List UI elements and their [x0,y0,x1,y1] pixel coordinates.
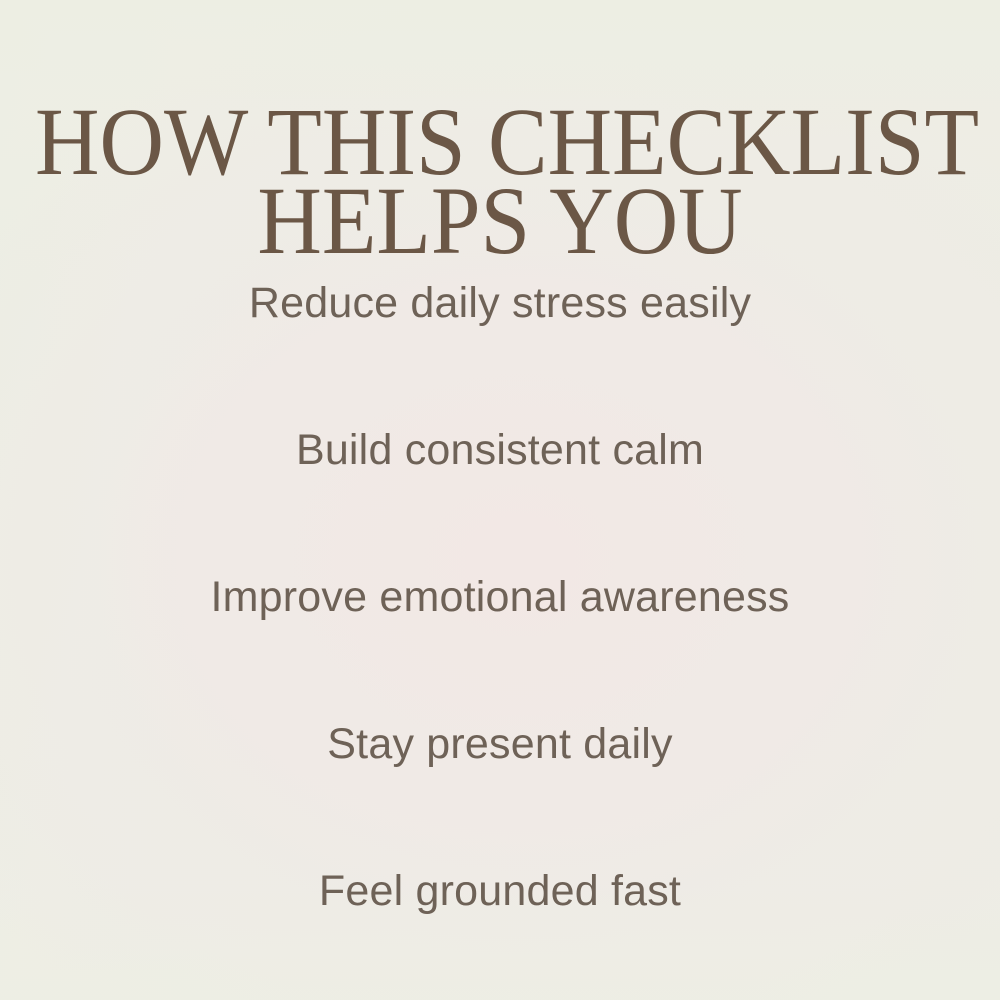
benefit-label: Stay present daily [327,720,672,769]
list-item: Build consistent calm [0,404,1000,497]
benefit-label: Build consistent calm [296,426,704,475]
list-item: Improve emotional awareness [0,551,1000,644]
list-item: Feel grounded fast [0,845,1000,938]
page-title: HOW THIS CHECKLIST HELPS YOU [35,102,965,260]
benefit-label: Feel grounded fast [319,867,681,916]
list-item: Stay present daily [0,698,1000,791]
benefit-label: Reduce daily stress easily [249,279,751,328]
checklist-benefits-poster: HOW THIS CHECKLIST HELPS YOU Reduce dail… [0,0,1000,1000]
benefit-label: Improve emotional awareness [210,573,789,622]
benefits-list: Reduce daily stress easily Build consist… [0,257,1000,938]
list-item: Reduce daily stress easily [0,257,1000,350]
